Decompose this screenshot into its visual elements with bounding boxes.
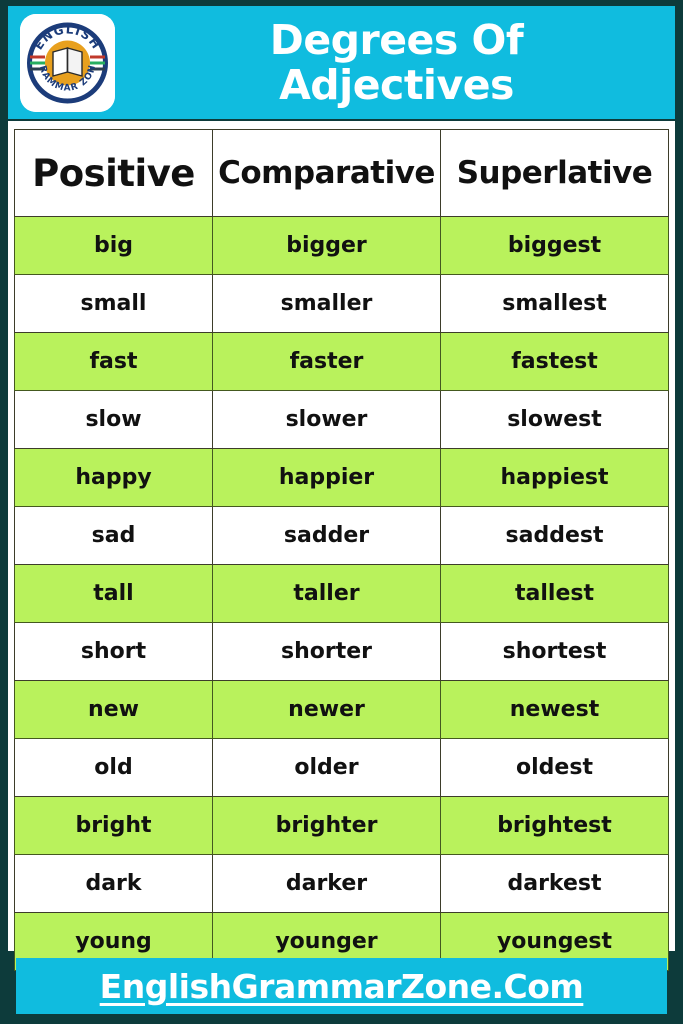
website-link[interactable]: EnglishGrammarZone.Com: [100, 967, 584, 1006]
table-row: short shorter shortest: [15, 623, 669, 681]
table-row: new newer newest: [15, 681, 669, 739]
page-title-line-2: Adjectives: [279, 63, 514, 108]
column-header-superlative: Superlative: [441, 130, 669, 217]
table-row: small smaller smallest: [15, 275, 669, 333]
header-banner: ENGLISH GRAMMAR ZONE Degrees Of Adjectiv…: [8, 6, 675, 119]
cell-superlative: shortest: [441, 623, 669, 681]
table-body: big bigger biggest small smaller smalles…: [15, 217, 669, 971]
cell-positive: slow: [15, 391, 213, 449]
table-row: happy happier happiest: [15, 449, 669, 507]
table-row: dark darker darkest: [15, 855, 669, 913]
cell-superlative: biggest: [441, 217, 669, 275]
poster-root: ENGLISH GRAMMAR ZONE Degrees Of Adjectiv…: [0, 0, 683, 1024]
cell-positive: tall: [15, 565, 213, 623]
table-header: Positive Comparative Superlative: [15, 130, 669, 217]
cell-positive: old: [15, 739, 213, 797]
table-row: tall taller tallest: [15, 565, 669, 623]
cell-comparative: older: [213, 739, 441, 797]
footer-banner: EnglishGrammarZone.Com: [16, 958, 667, 1014]
cell-comparative: brighter: [213, 797, 441, 855]
cell-comparative: slower: [213, 391, 441, 449]
cell-comparative: happier: [213, 449, 441, 507]
cell-positive: bright: [15, 797, 213, 855]
cell-superlative: smallest: [441, 275, 669, 333]
cell-positive: sad: [15, 507, 213, 565]
cell-superlative: happiest: [441, 449, 669, 507]
table-row: slow slower slowest: [15, 391, 669, 449]
cell-comparative: darker: [213, 855, 441, 913]
cell-comparative: bigger: [213, 217, 441, 275]
table-row: big bigger biggest: [15, 217, 669, 275]
page-title: Degrees Of Adjectives: [128, 6, 665, 119]
cell-comparative: newer: [213, 681, 441, 739]
table-header-row: Positive Comparative Superlative: [15, 130, 669, 217]
cell-superlative: brightest: [441, 797, 669, 855]
cell-positive: fast: [15, 333, 213, 391]
cell-comparative: sadder: [213, 507, 441, 565]
cell-positive: small: [15, 275, 213, 333]
table-row: sad sadder saddest: [15, 507, 669, 565]
cell-superlative: newest: [441, 681, 669, 739]
degrees-table: Positive Comparative Superlative big big…: [14, 129, 669, 971]
open-book-icon: ENGLISH GRAMMAR ZONE: [20, 14, 115, 112]
column-header-comparative: Comparative: [213, 130, 441, 217]
cell-superlative: oldest: [441, 739, 669, 797]
page-title-line-1: Degrees Of: [270, 18, 523, 63]
brand-logo: ENGLISH GRAMMAR ZONE: [20, 14, 115, 112]
cell-positive: short: [15, 623, 213, 681]
cell-comparative: shorter: [213, 623, 441, 681]
cell-comparative: smaller: [213, 275, 441, 333]
cell-positive: big: [15, 217, 213, 275]
cell-positive: new: [15, 681, 213, 739]
table-row: bright brighter brightest: [15, 797, 669, 855]
cell-superlative: slowest: [441, 391, 669, 449]
cell-comparative: faster: [213, 333, 441, 391]
cell-superlative: tallest: [441, 565, 669, 623]
cell-superlative: saddest: [441, 507, 669, 565]
cell-comparative: taller: [213, 565, 441, 623]
cell-positive: happy: [15, 449, 213, 507]
cell-superlative: fastest: [441, 333, 669, 391]
cell-superlative: darkest: [441, 855, 669, 913]
column-header-positive: Positive: [15, 130, 213, 217]
table-row: old older oldest: [15, 739, 669, 797]
cell-positive: dark: [15, 855, 213, 913]
table-panel: Positive Comparative Superlative big big…: [8, 121, 675, 951]
table-row: fast faster fastest: [15, 333, 669, 391]
